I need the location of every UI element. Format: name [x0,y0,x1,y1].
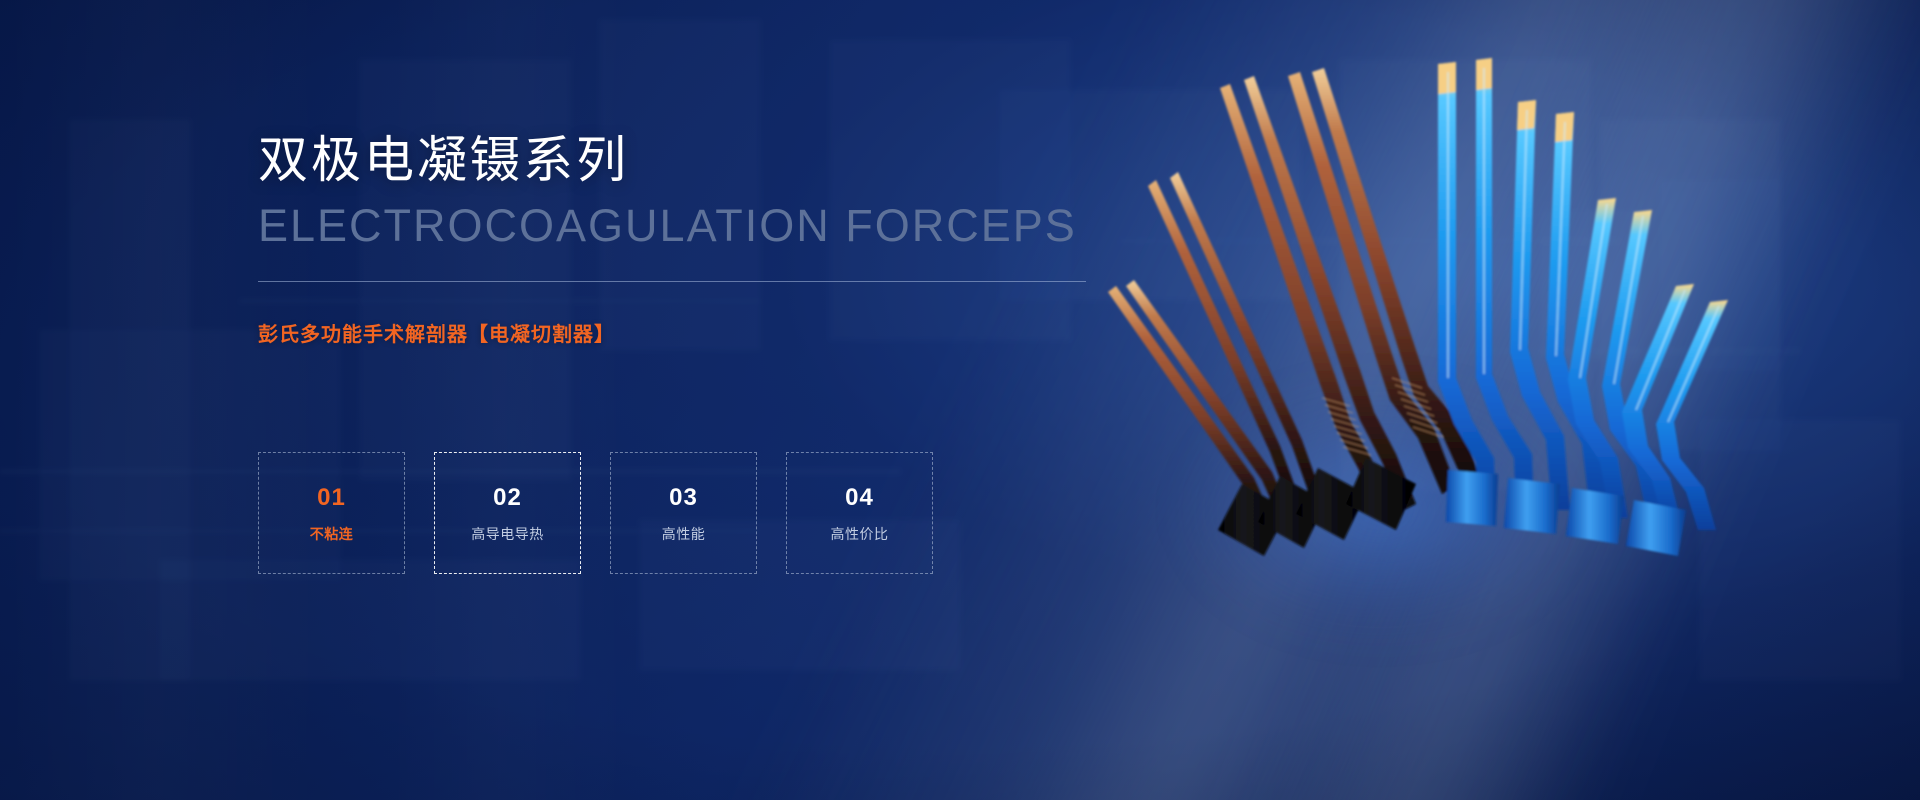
feature-item-02[interactable]: 02 高导电导热 [434,452,581,574]
divider [258,281,1086,282]
feature-label: 不粘连 [310,527,354,541]
feature-number: 01 [317,486,346,510]
feature-number: 02 [493,486,522,510]
feature-item-01[interactable]: 01 不粘连 [258,452,405,574]
feature-number: 03 [669,486,698,510]
feature-label: 高性能 [662,527,706,541]
feature-number: 04 [845,486,874,510]
feature-list: 01 不粘连 02 高导电导热 03 高性能 04 高性价比 [258,452,933,574]
feature-label: 高导电导热 [471,527,544,541]
feature-item-04[interactable]: 04 高性价比 [786,452,933,574]
page-subtitle-english: ELECTROCOAGULATION FORCEPS [258,202,1018,249]
page-title: 双极电凝镊系列 [258,132,1018,188]
hero-banner: 双极电凝镊系列 ELECTROCOAGULATION FORCEPS 彭氏多功能… [0,0,1920,800]
banner-text-block: 双极电凝镊系列 ELECTROCOAGULATION FORCEPS 彭氏多功能… [258,132,1018,347]
feature-label: 高性价比 [831,527,889,541]
feature-item-03[interactable]: 03 高性能 [610,452,757,574]
product-image [1104,48,1824,688]
product-tagline: 彭氏多功能手术解剖器【电凝切割器】 [258,318,1018,347]
